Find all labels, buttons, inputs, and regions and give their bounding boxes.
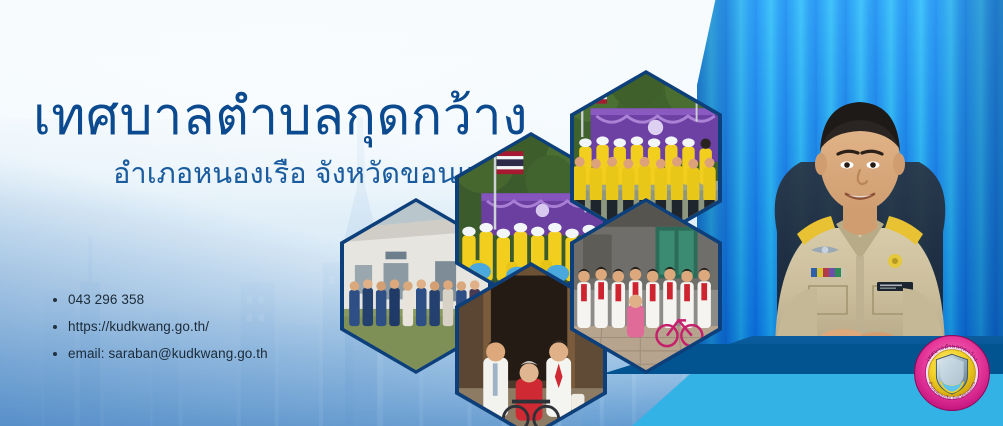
photo-group-white-red — [574, 202, 718, 370]
contact-item-email[interactable]: email: saraban@kudkwang.go.th — [52, 346, 268, 361]
contact-list: 043 296 358 https://kudkwang.go.th/ emai… — [52, 292, 268, 373]
hexagon-photo-collage — [340, 70, 740, 400]
director-portrait-figure — [735, 18, 985, 348]
contact-item-website[interactable]: https://kudkwang.go.th/ — [52, 319, 268, 334]
municipality-banner: เทศบาลตำบลกุดกว้าง อำเภอหนองเรือ จังหวัด… — [0, 0, 1003, 426]
contact-phone-text: 043 296 358 — [68, 292, 144, 307]
contact-email-text: email: saraban@kudkwang.go.th — [68, 346, 268, 361]
municipality-seal-logo[interactable]: เทศบาลตำบลกุดกว้าง อำเภอหนองเรือ จังหวัด… — [913, 334, 991, 412]
contact-item-phone[interactable]: 043 296 358 — [52, 292, 268, 307]
contact-website-text: https://kudkwang.go.th/ — [68, 319, 209, 334]
director-portrait-panel — [697, 0, 1003, 388]
